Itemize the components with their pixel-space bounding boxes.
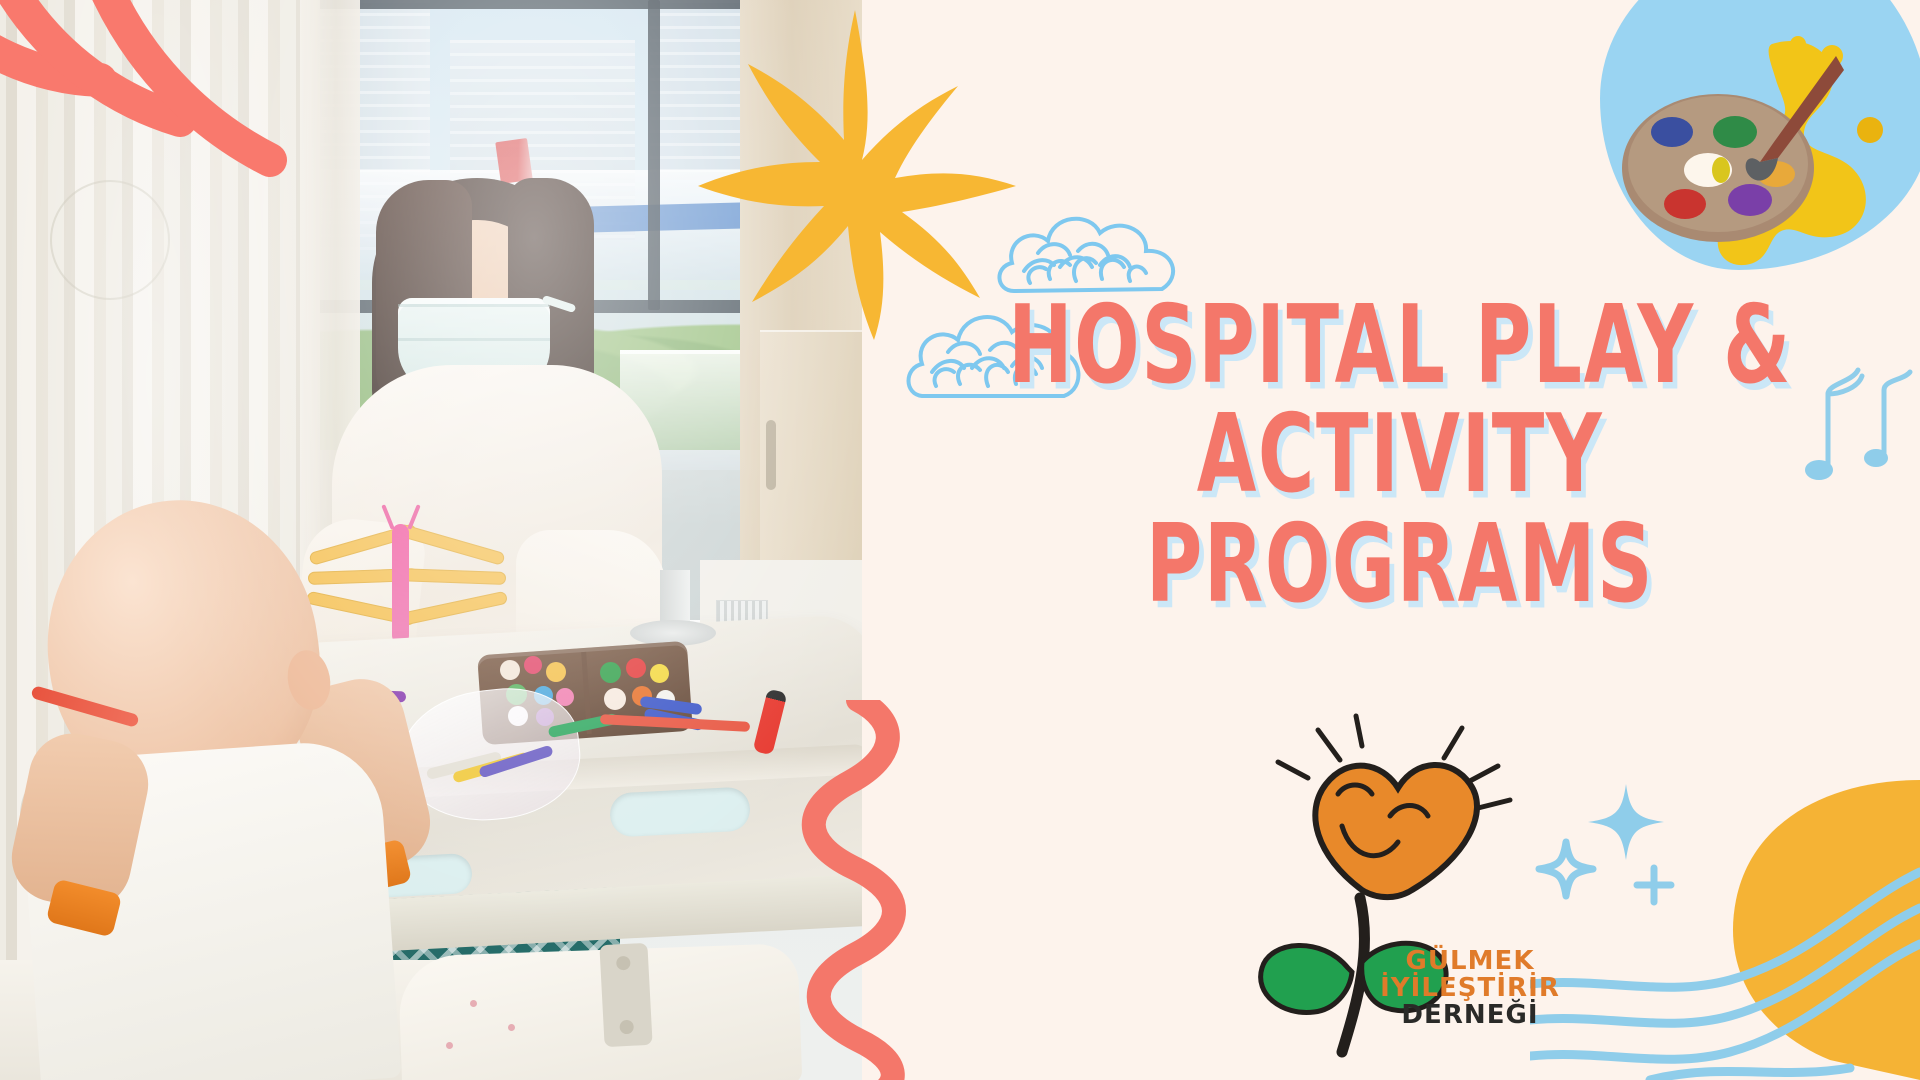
blue-blob-decoration xyxy=(1600,0,1920,270)
poster-title: HOSPITAL PLAY & ACTIVITY PROGRAMS xyxy=(880,296,1920,590)
hospital-play-session-photo xyxy=(0,0,862,1080)
logo-wordmark: GÜLMEK İYİLEŞTİRİR DERNEĞİ xyxy=(1370,948,1570,1029)
logo-line-1: GÜLMEK xyxy=(1370,948,1570,975)
child-patient xyxy=(10,500,440,1080)
logo-line-3: DERNEĞİ xyxy=(1370,1002,1570,1029)
cabinet-handle xyxy=(766,420,776,490)
orange-wave-corner-decoration xyxy=(1530,750,1920,1080)
poster-canvas: HOSPITAL PLAY & ACTIVITY PROGRAMS xyxy=(0,0,1920,1080)
organization-logo: GÜLMEK İYİLEŞTİRİR DERNEĞİ xyxy=(1230,700,1570,1080)
title-line-2: ACTIVITY xyxy=(911,405,1889,505)
bed-bracket xyxy=(599,943,652,1047)
table-handle-slot xyxy=(609,786,751,837)
title-line-1: HOSPITAL PLAY & xyxy=(911,296,1889,396)
logo-line-2: İYİLEŞTİRİR xyxy=(1370,975,1570,1002)
paint-palette-icon xyxy=(1600,22,1900,282)
title-line-3: PROGRAMS xyxy=(911,515,1889,615)
